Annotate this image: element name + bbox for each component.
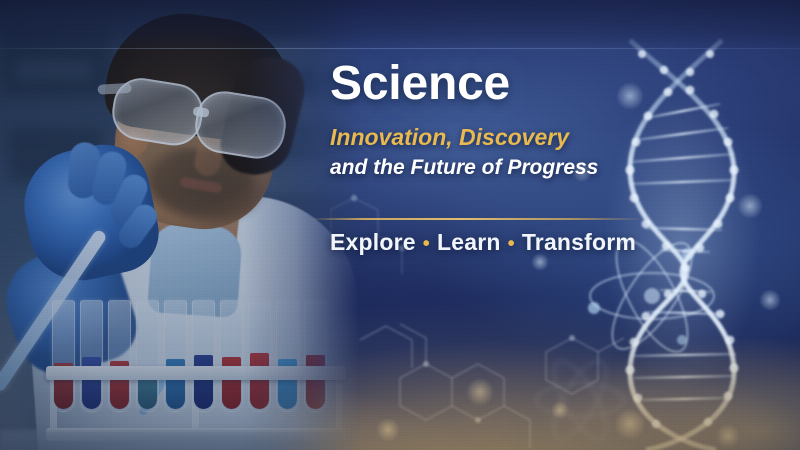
science-banner: Science Innovation, Discovery and the Fu… [0,0,800,450]
grain-overlay [0,0,800,450]
